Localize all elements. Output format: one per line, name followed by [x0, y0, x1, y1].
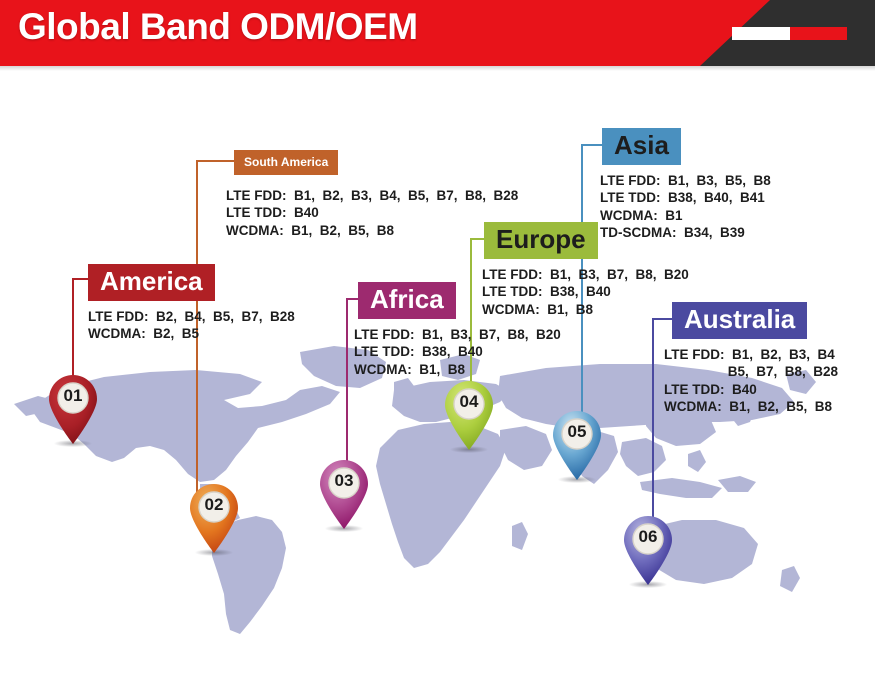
pin-shape-icon	[441, 379, 497, 451]
connector-line	[346, 298, 348, 478]
spec-line: LTE FDD: B2, B4, B5, B7, B28	[88, 308, 295, 325]
map-pin-06[interactable]: 06	[620, 514, 676, 586]
region-badge-europe[interactable]: Europe	[484, 222, 598, 259]
pin-shape-icon	[186, 482, 242, 554]
header-shadow	[0, 66, 875, 71]
pin-number: 05	[549, 422, 605, 442]
spec-line: LTE FDD: B1, B3, B5, B8	[600, 172, 771, 189]
map-pin-01[interactable]: 01	[45, 373, 101, 445]
slide-canvas: Global Band ODM/OEM	[0, 0, 875, 676]
region-block-australia[interactable]: Australia LTE FDD: B1, B2, B3, B4 B5, B7…	[672, 302, 838, 415]
region-badge-america[interactable]: America	[88, 264, 215, 301]
spec-line: LTE TDD: B38, B40	[482, 283, 689, 300]
pin-number: 01	[45, 386, 101, 406]
spec-line: LTE TDD: B38, B40	[354, 343, 561, 360]
map-pin-04[interactable]: 04	[441, 379, 497, 451]
header-decoration	[732, 27, 847, 40]
spec-line: WCDMA: B1, B2, B5, B8	[226, 222, 518, 239]
region-specs-australia: LTE FDD: B1, B2, B3, B4 B5, B7, B8, B28 …	[664, 346, 838, 415]
spec-line: LTE TDD: B38, B40, B41	[600, 189, 771, 206]
spec-line: WCDMA: B1, B8	[354, 361, 561, 378]
spec-line: TD-SCDMA: B34, B39	[600, 224, 771, 241]
region-block-america[interactable]: America LTE FDD: B2, B4, B5, B7, B28 WCD…	[88, 264, 295, 343]
pin-shape-icon	[45, 373, 101, 445]
map-pin-03[interactable]: 03	[316, 458, 372, 530]
region-block-south-america[interactable]: South America LTE FDD: B1, B2, B3, B4, B…	[234, 150, 518, 239]
pin-shape-icon	[316, 458, 372, 530]
spec-line: LTE TDD: B40	[226, 204, 518, 221]
region-badge-africa[interactable]: Africa	[358, 282, 456, 319]
pin-number: 04	[441, 392, 497, 412]
spec-line: WCDMA: B2, B5	[88, 325, 295, 342]
connector-line	[652, 318, 654, 540]
pin-shape-icon	[620, 514, 676, 586]
spec-line: LTE TDD: B40	[664, 381, 838, 398]
region-specs-asia: LTE FDD: B1, B3, B5, B8 LTE TDD: B38, B4…	[600, 172, 771, 241]
region-badge-asia[interactable]: Asia	[602, 128, 681, 165]
spec-line: LTE FDD: B1, B3, B7, B8, B20	[482, 266, 689, 283]
spec-line: WCDMA: B1, B8	[482, 301, 689, 318]
pin-number: 02	[186, 495, 242, 515]
header-bar: Global Band ODM/OEM	[0, 0, 875, 66]
region-badge-south-america[interactable]: South America	[234, 150, 338, 175]
pin-shape-icon	[549, 409, 605, 481]
spec-line: B5, B7, B8, B28	[664, 363, 838, 380]
spec-line: WCDMA: B1	[600, 207, 771, 224]
map-pin-02[interactable]: 02	[186, 482, 242, 554]
spec-line: WCDMA: B1, B2, B5, B8	[664, 398, 838, 415]
spec-line: LTE FDD: B1, B2, B3, B4	[664, 346, 838, 363]
decoration-red-bar	[790, 27, 847, 40]
region-specs-south-america: LTE FDD: B1, B2, B3, B4, B5, B7, B8, B28…	[226, 187, 518, 239]
pin-number: 03	[316, 471, 372, 491]
map-pin-05[interactable]: 05	[549, 409, 605, 481]
region-badge-australia[interactable]: Australia	[672, 302, 807, 339]
region-block-asia[interactable]: Asia LTE FDD: B1, B3, B5, B8 LTE TDD: B3…	[602, 128, 771, 241]
connector-stub	[196, 160, 238, 162]
spec-line: LTE FDD: B1, B2, B3, B4, B5, B7, B8, B28	[226, 187, 518, 204]
decoration-white-bar	[732, 27, 790, 40]
connector-stub	[652, 318, 674, 320]
pin-number: 06	[620, 527, 676, 547]
page-title: Global Band ODM/OEM	[18, 6, 418, 48]
region-specs-africa: LTE FDD: B1, B3, B7, B8, B20 LTE TDD: B3…	[354, 326, 561, 378]
region-specs-america: LTE FDD: B2, B4, B5, B7, B28 WCDMA: B2, …	[88, 308, 295, 343]
spec-line: LTE FDD: B1, B3, B7, B8, B20	[354, 326, 561, 343]
region-specs-europe: LTE FDD: B1, B3, B7, B8, B20 LTE TDD: B3…	[482, 266, 689, 318]
